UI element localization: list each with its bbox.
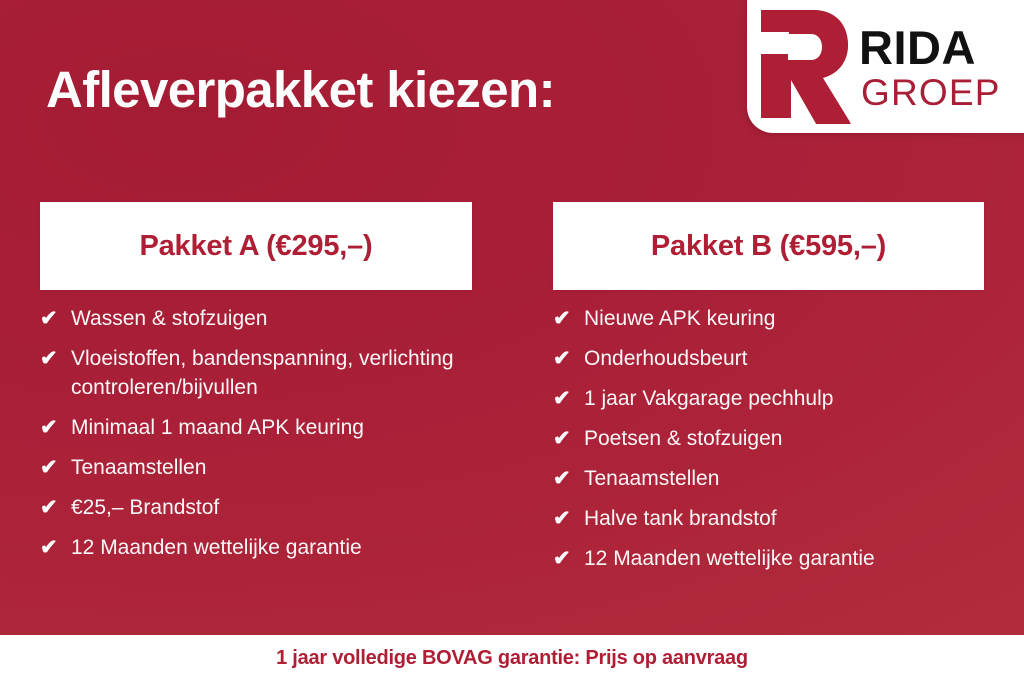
logo-wordmark: RIDA GROEP: [859, 24, 1001, 111]
footer-note: 1 jaar volledige BOVAG garantie: Prijs o…: [276, 647, 748, 670]
rida-groep-logo: RIDA GROEP: [747, 0, 1024, 133]
feature-text: Tenaamstellen: [71, 453, 472, 482]
list-item: ✔ 1 jaar Vakgarage pechhulp: [553, 384, 984, 413]
list-item: ✔ Vloeistoffen, bandenspanning, verlicht…: [40, 344, 472, 402]
logo-name: RIDA: [859, 24, 1001, 71]
list-item: ✔ Minimaal 1 maand APK keuring: [40, 413, 472, 442]
page-title: Afleverpakket kiezen:: [46, 60, 706, 120]
feature-text: Wassen & stofzuigen: [71, 304, 472, 333]
feature-text: Onderhoudsbeurt: [584, 344, 984, 373]
footer-bar: 1 jaar volledige BOVAG garantie: Prijs o…: [0, 635, 1024, 682]
list-item: ✔ Halve tank brandstof: [553, 504, 984, 533]
package-a-feature-list: ✔ Wassen & stofzuigen ✔ Vloeistoffen, ba…: [40, 290, 472, 562]
feature-text: Nieuwe APK keuring: [584, 304, 984, 333]
package-column-a: Pakket A (€295,–) ✔ Wassen & stofzuigen …: [40, 202, 472, 573]
list-item: ✔ €25,– Brandstof: [40, 493, 472, 522]
package-a-title: Pakket A (€295,–): [139, 230, 372, 263]
feature-text: Tenaamstellen: [584, 464, 984, 493]
list-item: ✔ 12 Maanden wettelijke garantie: [40, 533, 472, 562]
list-item: ✔ Tenaamstellen: [553, 464, 984, 493]
check-icon: ✔: [553, 344, 572, 373]
check-icon: ✔: [553, 384, 572, 413]
package-b-feature-list: ✔ Nieuwe APK keuring ✔ Onderhoudsbeurt ✔…: [553, 290, 984, 573]
feature-text: 12 Maanden wettelijke garantie: [71, 533, 472, 562]
feature-text: €25,– Brandstof: [71, 493, 472, 522]
check-icon: ✔: [553, 304, 572, 333]
feature-text: Poetsen & stofzuigen: [584, 424, 984, 453]
check-icon: ✔: [40, 453, 59, 482]
rida-r-monogram-icon: [755, 6, 851, 126]
logo-subtitle: GROEP: [861, 74, 1001, 111]
list-item: ✔ 12 Maanden wettelijke garantie: [553, 544, 984, 573]
list-item: ✔ Wassen & stofzuigen: [40, 304, 472, 333]
feature-text: Vloeistoffen, bandenspanning, verlichtin…: [71, 344, 472, 402]
feature-text: 12 Maanden wettelijke garantie: [584, 544, 984, 573]
check-icon: ✔: [553, 464, 572, 493]
list-item: ✔ Tenaamstellen: [40, 453, 472, 482]
package-a-header[interactable]: Pakket A (€295,–): [40, 202, 472, 290]
feature-text: Minimaal 1 maand APK keuring: [71, 413, 472, 442]
list-item: ✔ Onderhoudsbeurt: [553, 344, 984, 373]
feature-text: Halve tank brandstof: [584, 504, 984, 533]
check-icon: ✔: [40, 344, 59, 373]
list-item: ✔ Nieuwe APK keuring: [553, 304, 984, 333]
package-b-title: Pakket B (€595,–): [651, 230, 886, 263]
package-column-b: Pakket B (€595,–) ✔ Nieuwe APK keuring ✔…: [553, 202, 984, 584]
check-icon: ✔: [40, 304, 59, 333]
check-icon: ✔: [553, 504, 572, 533]
check-icon: ✔: [553, 424, 572, 453]
check-icon: ✔: [40, 413, 59, 442]
package-b-header[interactable]: Pakket B (€595,–): [553, 202, 984, 290]
check-icon: ✔: [40, 493, 59, 522]
list-item: ✔ Poetsen & stofzuigen: [553, 424, 984, 453]
feature-text: 1 jaar Vakgarage pechhulp: [584, 384, 984, 413]
check-icon: ✔: [40, 533, 59, 562]
check-icon: ✔: [553, 544, 572, 573]
afleverpakket-poster: Afleverpakket kiezen: RIDA GROEP Pakket …: [0, 0, 1024, 682]
